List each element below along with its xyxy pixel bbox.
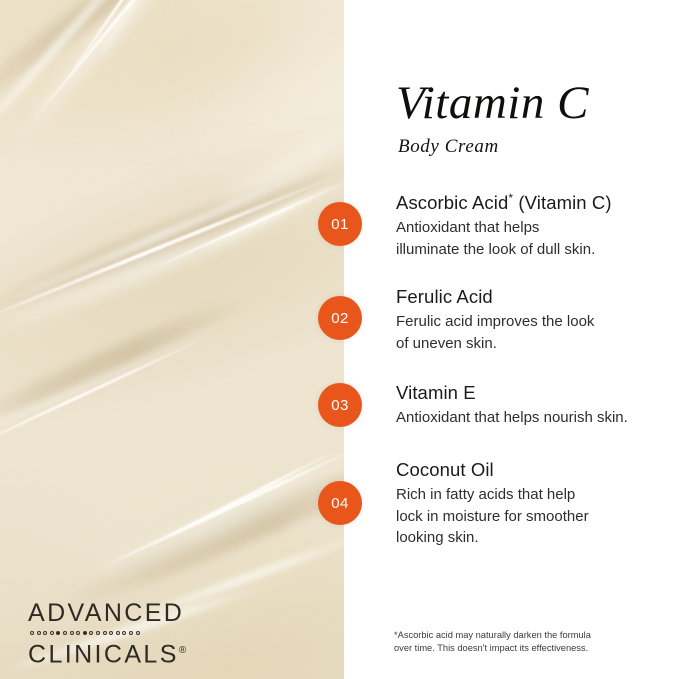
ingredient-name: Ascorbic Acid* (Vitamin C) xyxy=(396,191,676,214)
description-line: Rich in fatty acids that help xyxy=(396,484,676,506)
page-title: Vitamin C xyxy=(396,78,589,128)
cream-texture-photo: ADVANCED CLINICALS® xyxy=(0,0,344,679)
page-subtitle: Body Cream xyxy=(398,136,499,158)
ingredient-name-text: Ferulic Acid xyxy=(396,286,493,307)
registered-trademark-icon: ® xyxy=(179,645,186,656)
ingredient-description: Antioxidant that helps illuminate the lo… xyxy=(396,217,676,260)
ingredient-description: Rich in fatty acids that help lock in mo… xyxy=(396,484,676,549)
footnote-line: over time. This doesn't impact its effec… xyxy=(394,642,679,655)
ingredient-badge-03: 03 xyxy=(318,383,362,427)
footnote-line: *Ascorbic acid may naturally darken the … xyxy=(394,629,679,642)
logo-dot xyxy=(103,631,107,635)
description-line: illuminate the look of dull skin. xyxy=(396,239,676,261)
ingredient-name-text: Vitamin E xyxy=(396,382,476,403)
logo-dot xyxy=(109,631,113,635)
ingredient-item-02: Ferulic Acid Ferulic acid improves the l… xyxy=(396,285,676,354)
product-infographic: ADVANCED CLINICALS® xyxy=(0,0,679,679)
ingredient-item-03: Vitamin E Antioxidant that helps nourish… xyxy=(396,381,676,429)
logo-dot xyxy=(37,631,41,635)
ingredient-name: Vitamin E xyxy=(396,381,676,404)
logo-dot xyxy=(89,631,93,635)
brand-logo-line-1: ADVANCED xyxy=(28,600,218,627)
ingredient-badge-01: 01 xyxy=(318,202,362,246)
description-line: lock in moisture for smoother xyxy=(396,506,676,528)
ingredient-badge-04: 04 xyxy=(318,481,362,525)
logo-dot-filled xyxy=(56,631,60,635)
ingredient-description: Ferulic acid improves the look of uneven… xyxy=(396,311,676,354)
brand-logo-line-2-text: CLINICALS xyxy=(28,640,179,668)
footnote: *Ascorbic acid may naturally darken the … xyxy=(394,629,679,654)
ingredient-item-04: Coconut Oil Rich in fatty acids that hel… xyxy=(396,458,676,549)
logo-dot xyxy=(70,631,74,635)
logo-dot xyxy=(116,631,120,635)
ingredient-item-01: Ascorbic Acid* (Vitamin C) Antioxidant t… xyxy=(396,191,676,260)
brand-logo-line-2: CLINICALS® xyxy=(28,637,218,668)
description-line: Antioxidant that helps xyxy=(396,217,676,239)
content-panel: Vitamin C Body Cream Ascorbic Acid* (Vit… xyxy=(344,0,679,679)
description-line: Ferulic acid improves the look xyxy=(396,311,676,333)
description-line: Antioxidant that helps nourish skin. xyxy=(396,407,676,429)
ingredient-name-text: Ascorbic Acid xyxy=(396,192,508,213)
logo-dot xyxy=(63,631,67,635)
description-line: of uneven skin. xyxy=(396,333,676,355)
ingredient-name-text: Coconut Oil xyxy=(396,459,494,480)
ingredient-name-suffix: (Vitamin C) xyxy=(513,192,612,213)
ingredient-badge-02: 02 xyxy=(318,296,362,340)
logo-dot xyxy=(129,631,133,635)
ingredient-name: Ferulic Acid xyxy=(396,285,676,308)
logo-dot xyxy=(96,631,100,635)
brand-logo-dot-row xyxy=(30,628,218,637)
ingredient-name: Coconut Oil xyxy=(396,458,676,481)
logo-dot xyxy=(122,631,126,635)
brand-logo: ADVANCED CLINICALS® xyxy=(28,600,218,668)
logo-dot xyxy=(43,631,47,635)
logo-dot xyxy=(76,631,80,635)
logo-dot xyxy=(136,631,140,635)
logo-dot xyxy=(50,631,54,635)
description-line: looking skin. xyxy=(396,527,676,549)
logo-dot xyxy=(30,631,34,635)
ingredient-description: Antioxidant that helps nourish skin. xyxy=(396,407,676,429)
logo-dot-filled xyxy=(83,631,87,635)
